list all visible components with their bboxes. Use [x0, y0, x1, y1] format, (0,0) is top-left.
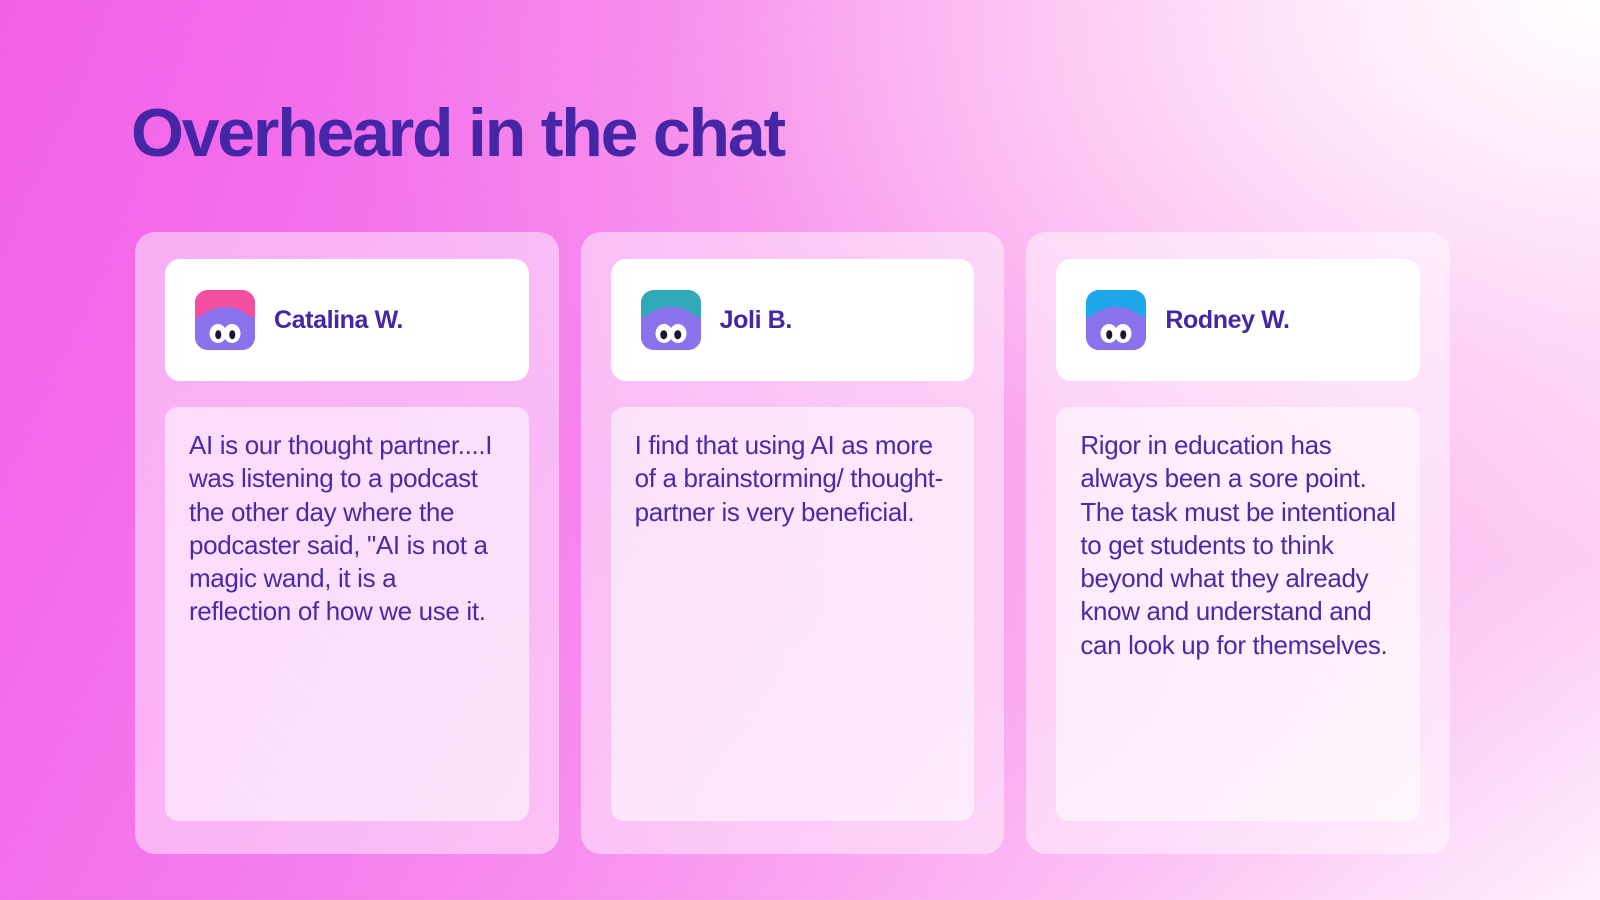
quote-box: AI is our thought partner....I was liste…: [165, 407, 529, 821]
avatar-eyes: [1101, 324, 1132, 343]
author-card: Joli B.: [611, 259, 975, 381]
testimonial-card: Catalina W. AI is our thought partner...…: [135, 232, 559, 854]
avatar-eye-right: [1115, 324, 1132, 343]
avatar-eyes: [655, 324, 686, 343]
author-name: Catalina W.: [274, 306, 403, 335]
author-name: Rodney W.: [1165, 306, 1289, 335]
author-card: Rodney W.: [1056, 259, 1420, 381]
person-avatar-icon: [1086, 290, 1146, 350]
quote-text: AI is our thought partner....I was liste…: [189, 429, 505, 629]
slide-root: Overheard in the chat Catalina W. AI is …: [0, 0, 1600, 900]
quote-text: Rigor in education has always been a sor…: [1080, 429, 1396, 662]
author-name: Joli B.: [720, 306, 792, 335]
person-avatar-icon: [641, 290, 701, 350]
testimonial-card-grid: Catalina W. AI is our thought partner...…: [135, 232, 1450, 854]
quote-box: Rigor in education has always been a sor…: [1056, 407, 1420, 821]
testimonial-card: Rodney W. Rigor in education has always …: [1026, 232, 1450, 854]
page-title: Overheard in the chat: [131, 98, 784, 169]
avatar-eye-right: [669, 324, 686, 343]
quote-text: I find that using AI as more of a brains…: [635, 429, 951, 529]
testimonial-card: Joli B. I find that using AI as more of …: [581, 232, 1005, 854]
author-card: Catalina W.: [165, 259, 529, 381]
quote-box: I find that using AI as more of a brains…: [611, 407, 975, 821]
avatar-eyes: [210, 324, 241, 343]
avatar-eye-right: [224, 324, 241, 343]
person-avatar-icon: [195, 290, 255, 350]
